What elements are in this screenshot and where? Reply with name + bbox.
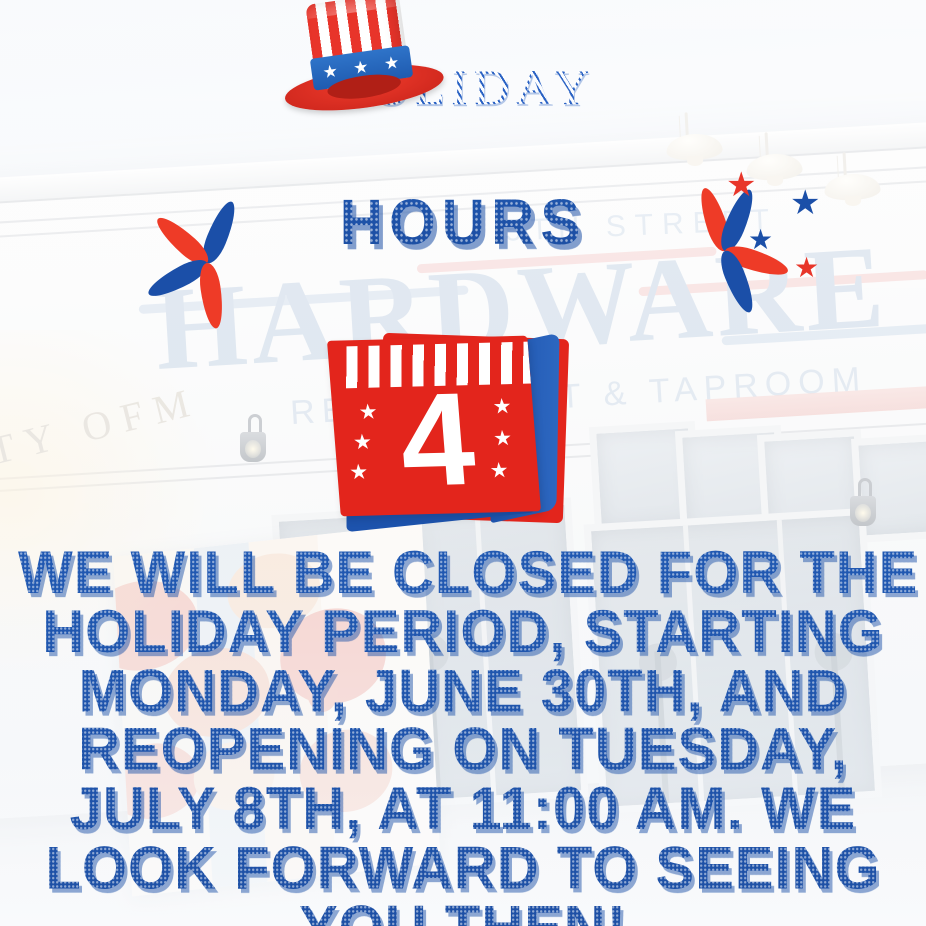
- calendar-star: ★: [349, 462, 369, 483]
- calendar-star: ★: [492, 428, 512, 449]
- calendar-star: ★: [352, 432, 372, 453]
- hat-star: ★: [382, 54, 401, 73]
- calendar-star: ★: [492, 396, 512, 417]
- calendar-star: ★: [489, 460, 509, 481]
- calendar-front-page: 4 ★ ★ ★ ★ ★ ★: [327, 336, 541, 517]
- uncle-sam-top-hat-icon: ★ ★ ★: [272, 0, 447, 129]
- headline-holiday: HOLIDAY: [0, 58, 926, 116]
- body-copy-line: HOLIDAY PERIOD, STARTING: [18, 603, 908, 662]
- body-copy-line: JULY 8TH, AT 11:00 AM. WE: [18, 780, 908, 839]
- body-copy: WE WILL BE CLOSED FOR THEHOLIDAY PERIOD,…: [0, 544, 926, 926]
- july-fourth-calendar-icon: 4 ★ ★ ★ ★ ★ ★: [322, 328, 580, 540]
- hat-star: ★: [321, 62, 340, 81]
- calendar-star: ★: [358, 402, 378, 423]
- body-copy-line: MONDAY, JUNE 30TH, AND: [18, 662, 908, 721]
- body-copy-line: YOU THEN!: [18, 899, 908, 926]
- body-copy-line: REOPENING ON TUESDAY,: [18, 721, 908, 780]
- body-copy-line: LOOK FORWARD TO SEEING: [18, 840, 908, 899]
- body-copy-line: WE WILL BE CLOSED FOR THE: [18, 544, 908, 603]
- holiday-hours-poster: 5TH STREET HARDWARE RESTAURANT & TAPROOM: [0, 0, 926, 926]
- headline-hours: HOURS: [0, 186, 926, 259]
